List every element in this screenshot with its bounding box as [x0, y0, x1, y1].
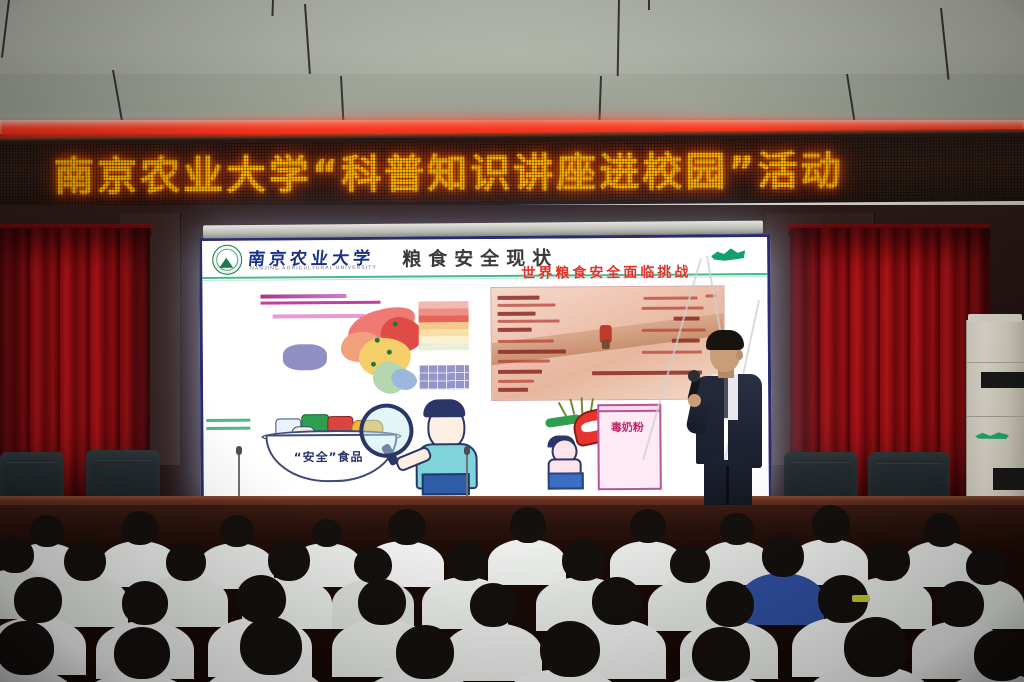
child-cartoon [541, 438, 585, 486]
ceiling-rod [1, 0, 10, 58]
slide-accent-bar [206, 419, 250, 422]
presenter-person [688, 332, 768, 510]
map-caption-bar [273, 314, 365, 319]
floor-microphone-stand[interactable] [466, 452, 468, 500]
projection-screen: 南京农业大学 NANJING AGRICULTURAL UNIVERSITY 粮… [199, 234, 772, 512]
ac-seam [967, 362, 1024, 363]
led-banner-text: 南京农业大学“科普知识讲座进校园”活动 [54, 138, 844, 202]
presentation-slide: 南京农业大学 NANJING AGRICULTURAL UNIVERSITY 粮… [202, 237, 769, 509]
university-crest-icon [212, 245, 242, 275]
microphone-head-icon [464, 446, 470, 455]
audience [0, 505, 1024, 682]
university-name-en: NANJING AGRICULTURAL UNIVERSITY [250, 265, 377, 272]
ac-brand-logo-icon [975, 432, 1009, 439]
poison-milk-powder-cartoon: 毒奶粉 [539, 398, 690, 491]
microphone-head-icon [688, 370, 700, 382]
map-legend-table [419, 365, 469, 389]
china-map-figure [254, 291, 475, 401]
map-caption-bar [260, 301, 380, 305]
lecture-hall-photo: 南京农业大学“科普知识讲座进校园”活动 南京农业大学 NANJING AGRIC… [0, 0, 1024, 682]
microphone-head-icon [236, 446, 242, 455]
ac-air-vent [993, 468, 1024, 490]
ac-unit-top [968, 314, 1022, 322]
floor-microphone-stand[interactable] [238, 452, 240, 500]
stage-table-edge [0, 496, 1024, 501]
ceiling-rod [304, 4, 311, 74]
floor-standing-air-conditioner [966, 320, 1024, 520]
inspector-cartoon [401, 399, 494, 492]
challenge-heading: 世界粮食安全面临挑战 [492, 261, 720, 283]
leaf-icon [711, 247, 745, 261]
ac-seam [967, 416, 1024, 417]
ceiling-rod [648, 0, 650, 10]
led-banner: 南京农业大学“科普知识讲座进校园”活动 [0, 129, 1024, 215]
poison-bag-label: 毒奶粉 [609, 420, 645, 436]
ac-display-panel [981, 372, 1024, 388]
map-caption-bar [260, 294, 346, 299]
ceiling-rod [271, 0, 274, 16]
hair-clip [852, 595, 870, 602]
slide-accent-bar [206, 427, 250, 430]
ceiling-rod [940, 8, 950, 80]
ceiling-rod [617, 0, 620, 76]
led-banner-display: 南京农业大学“科普知识讲座进校园”活动 [0, 136, 1024, 206]
